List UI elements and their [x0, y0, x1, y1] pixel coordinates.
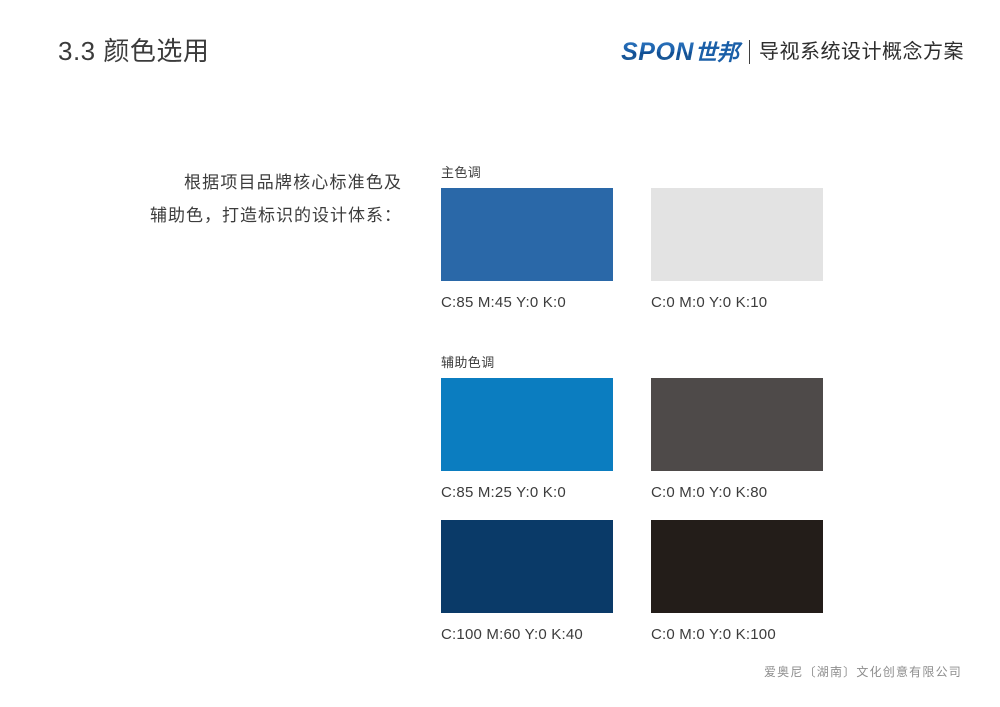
swatch-cell: C:85 M:25 Y:0 K:0	[441, 378, 613, 520]
swatch-cell: C:100 M:60 Y:0 K:40	[441, 520, 613, 662]
brand-lockup: SPON 世邦 导视系统设计概念方案	[621, 38, 964, 66]
swatch-cmyk-code: C:85 M:45 Y:0 K:0	[441, 293, 613, 313]
swatch-cmyk-code: C:0 M:0 Y:0 K:100	[651, 625, 823, 645]
palette-group-auxiliary: 辅助色调 C:85 M:25 Y:0 K:0 C:0 M:0 Y:0 K:80 …	[441, 354, 827, 662]
color-swatch	[441, 520, 613, 613]
color-swatch	[651, 520, 823, 613]
palette-group-label: 辅助色调	[441, 354, 827, 372]
brand-divider	[749, 40, 750, 64]
page-title: 3.3 颜色选用	[58, 34, 209, 68]
color-swatch	[441, 378, 613, 471]
swatch-grid: C:85 M:45 Y:0 K:0 C:0 M:0 Y:0 K:10	[441, 188, 827, 330]
slide-page: 3.3 颜色选用 SPON 世邦 导视系统设计概念方案 根据项目品牌核心标准色及…	[0, 0, 1000, 707]
swatch-cmyk-code: C:100 M:60 Y:0 K:40	[441, 625, 613, 645]
swatch-cell: C:85 M:45 Y:0 K:0	[441, 188, 613, 330]
color-swatch	[441, 188, 613, 281]
color-swatch	[651, 188, 823, 281]
brand-name-cn: 世邦	[695, 39, 739, 67]
swatch-cmyk-code: C:0 M:0 Y:0 K:80	[651, 483, 823, 503]
swatch-cell: C:0 M:0 Y:0 K:10	[651, 188, 823, 330]
brand-tagline: 导视系统设计概念方案	[759, 38, 964, 66]
palette-group-primary: 主色调 C:85 M:45 Y:0 K:0 C:0 M:0 Y:0 K:10	[441, 164, 827, 330]
intro-paragraph: 根据项目品牌核心标准色及辅助色，打造标识的设计体系：	[150, 166, 402, 232]
brand-name-latin: SPON	[621, 38, 694, 66]
color-swatch	[651, 378, 823, 471]
swatch-cell: C:0 M:0 Y:0 K:100	[651, 520, 823, 662]
slide-header: 3.3 颜色选用 SPON 世邦 导视系统设计概念方案	[0, 0, 1000, 96]
color-palette: 主色调 C:85 M:45 Y:0 K:0 C:0 M:0 Y:0 K:10 辅…	[441, 164, 827, 662]
palette-group-label: 主色调	[441, 164, 827, 182]
swatch-cmyk-code: C:85 M:25 Y:0 K:0	[441, 483, 613, 503]
spon-logo: SPON 世邦	[621, 38, 739, 66]
footer-company: 爱奥尼〔湖南〕文化创意有限公司	[764, 664, 962, 680]
swatch-grid: C:85 M:25 Y:0 K:0 C:0 M:0 Y:0 K:80 C:100…	[441, 378, 827, 662]
swatch-cell: C:0 M:0 Y:0 K:80	[651, 378, 823, 520]
swatch-cmyk-code: C:0 M:0 Y:0 K:10	[651, 293, 823, 313]
